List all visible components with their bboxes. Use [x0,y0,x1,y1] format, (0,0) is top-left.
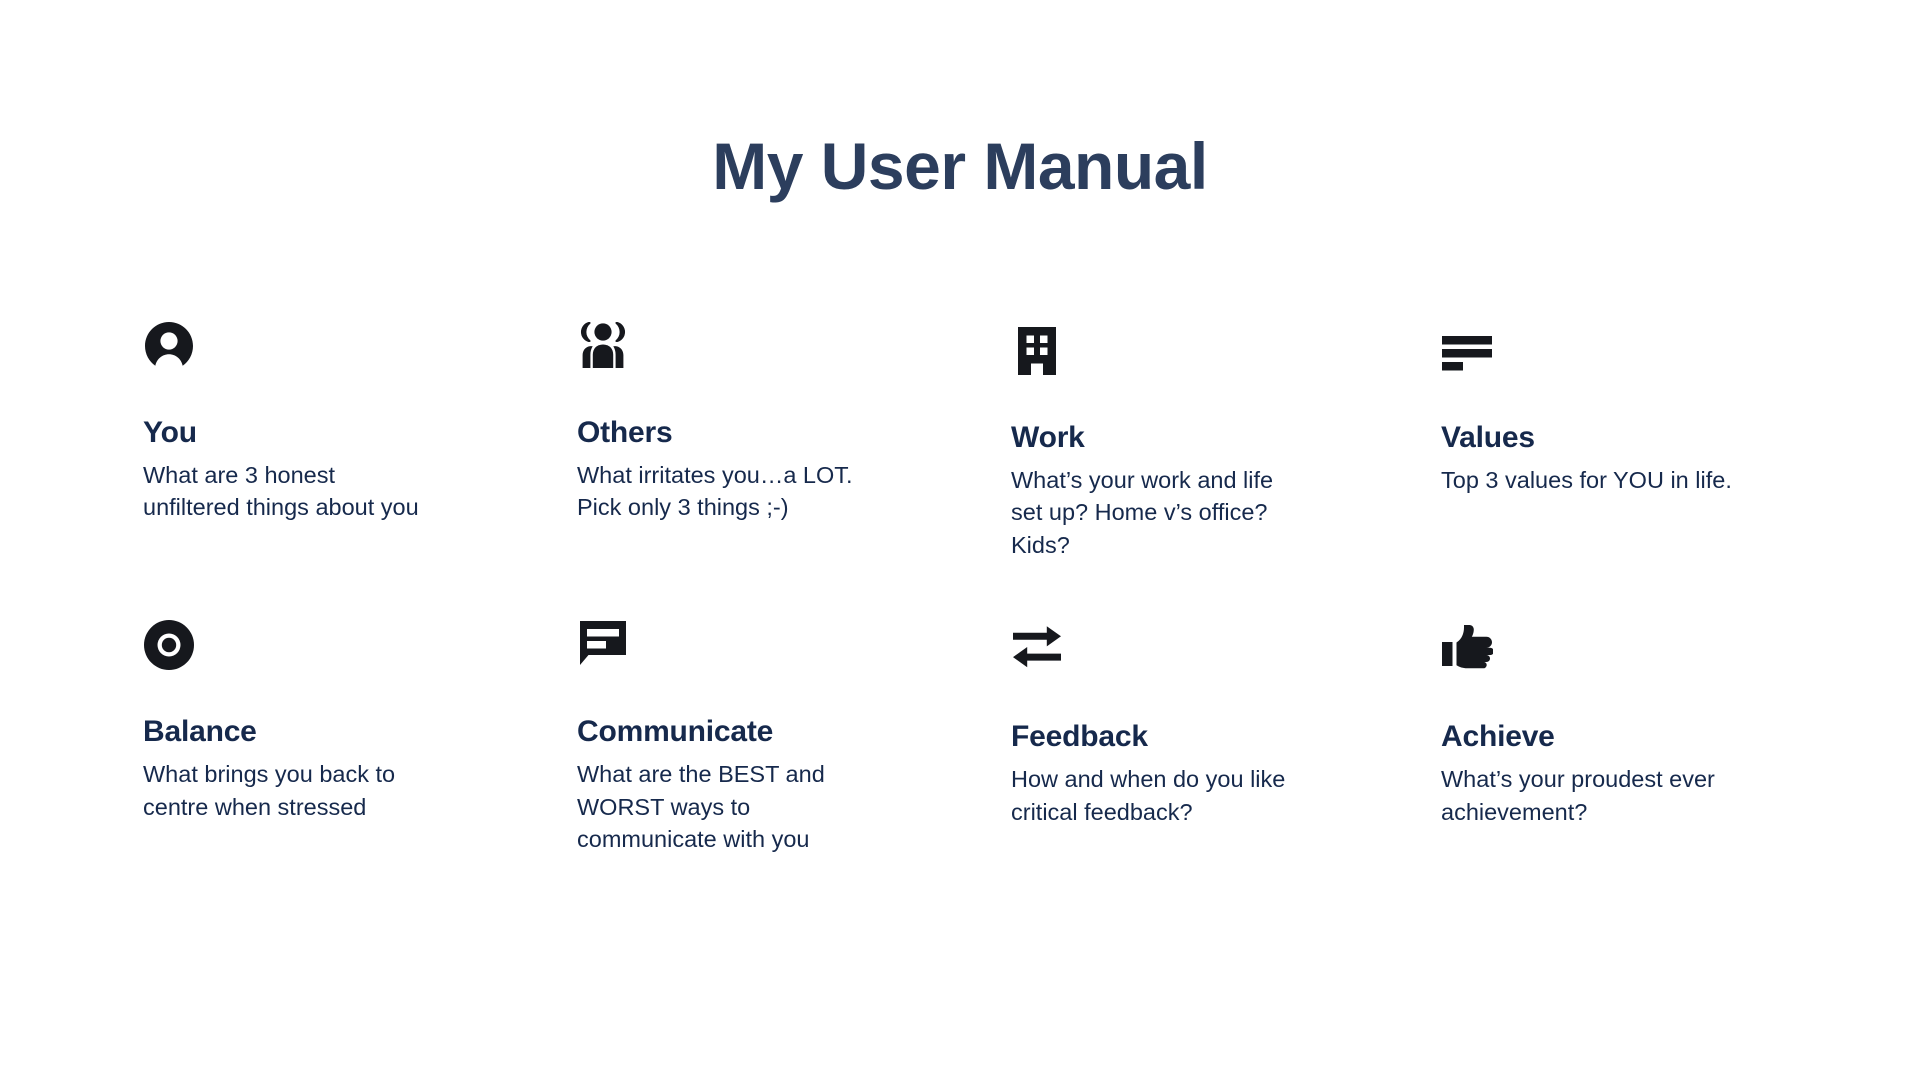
section-title: Achieve [1441,720,1843,753]
chat-bubble-icon [577,619,629,671]
office-building-icon [1011,325,1063,377]
section-description: What brings you back to centre when stre… [143,758,483,823]
section-description: What’s your work and life set up? Home v… [1011,464,1351,561]
section-card-values[interactable]: Values Top 3 values for YOU in life. [1441,320,1843,561]
section-card-others[interactable]: Others What irritates you…a LOT. Pick on… [577,320,1011,561]
exchange-arrows-icon [1011,624,1063,676]
section-description: What irritates you…a LOT. Pick only 3 th… [577,459,917,524]
section-card-work[interactable]: Work What’s your work and life set up? H… [1011,320,1441,561]
section-card-balance[interactable]: Balance What brings you back to centre w… [143,619,577,855]
section-description: Top 3 values for YOU in life. [1441,464,1801,496]
page-title-wrap: My User Manual [0,132,1920,201]
section-description: What are 3 honest unfiltered things abou… [143,459,483,524]
sort-list-icon [1441,325,1493,377]
section-description: How and when do you like critical feedba… [1011,763,1371,828]
page-title: My User Manual [0,132,1920,201]
section-card-achieve[interactable]: Achieve What’s your proudest ever achiev… [1441,619,1843,855]
section-description: What are the BEST and WORST ways to comm… [577,758,917,855]
section-card-communicate[interactable]: Communicate What are the BEST and WORST … [577,619,1011,855]
section-title: Balance [143,715,577,748]
section-title: Communicate [577,715,1011,748]
target-bullseye-icon [143,619,195,671]
section-title: Feedback [1011,720,1441,753]
section-title: You [143,416,577,449]
section-title: Others [577,416,1011,449]
group-people-icon [577,320,629,372]
manual-sections-grid: You What are 3 honest unfiltered things … [143,320,1843,856]
section-card-feedback[interactable]: Feedback How and when do you like critic… [1011,619,1441,855]
section-description: What’s your proudest ever achievement? [1441,763,1801,828]
section-card-you[interactable]: You What are 3 honest unfiltered things … [143,320,577,561]
section-title: Values [1441,421,1843,454]
user-manual-slide: My User Manual You What are 3 honest unf… [0,0,1920,1080]
person-account-icon [143,320,195,372]
thumbs-up-icon [1441,624,1493,676]
section-title: Work [1011,421,1441,454]
